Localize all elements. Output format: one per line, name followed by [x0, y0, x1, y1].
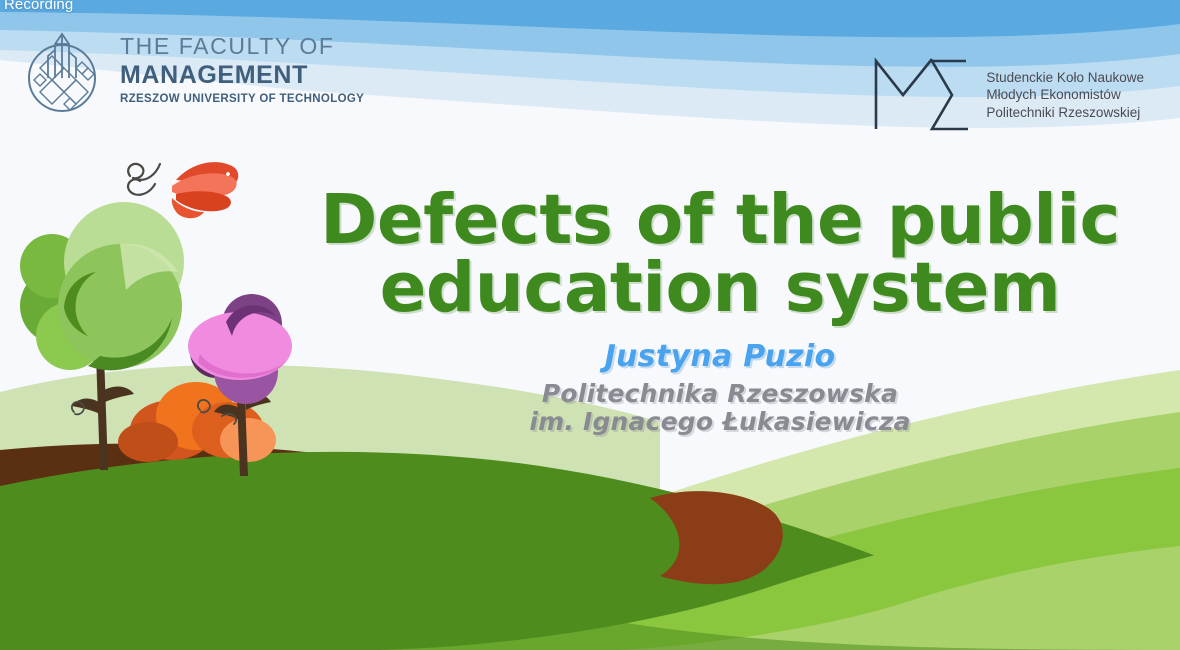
skn-logo-line1: Studenckie Koło Naukowe — [986, 69, 1144, 86]
faculty-logo-line1: THE FACULTY OF — [120, 35, 364, 58]
author-name: Justyna Puzio — [300, 339, 1140, 374]
skn-logo-line2: Młodych Ekonomistów — [986, 86, 1144, 103]
affiliation-line2: im. Ignacego Łukasiewicza — [300, 408, 1140, 436]
m-sigma-monogram-icon — [870, 55, 972, 135]
slide-title: Defects of the public education system — [300, 186, 1140, 323]
skn-logo: Studenckie Koło Naukowe Młodych Ekonomis… — [870, 55, 1144, 135]
title-block: Defects of the public education system J… — [300, 186, 1140, 436]
faculty-logo: THE FACULTY OF MANAGEMENT RZESZOW UNIVER… — [18, 22, 364, 114]
presentation-slide: Recording — [0, 0, 1180, 650]
slide-title-line2: education system — [300, 254, 1140, 322]
author-affiliation: Politechnika Rzeszowska im. Ignacego Łuk… — [300, 380, 1140, 436]
decorative-swirl-icon — [128, 164, 160, 195]
flora-illustration — [0, 140, 340, 500]
rzeszow-faculty-globe-emblem-icon — [18, 22, 106, 114]
bird-icon — [172, 162, 238, 218]
recording-indicator: Recording — [4, 0, 73, 13]
faculty-logo-line2: MANAGEMENT — [120, 63, 364, 88]
skn-logo-line3: Politechniki Rzeszowskiej — [986, 104, 1144, 121]
faculty-logo-line3: RZESZOW UNIVERSITY OF TECHNOLOGY — [120, 94, 364, 106]
affiliation-line1: Politechnika Rzeszowska — [542, 379, 898, 408]
